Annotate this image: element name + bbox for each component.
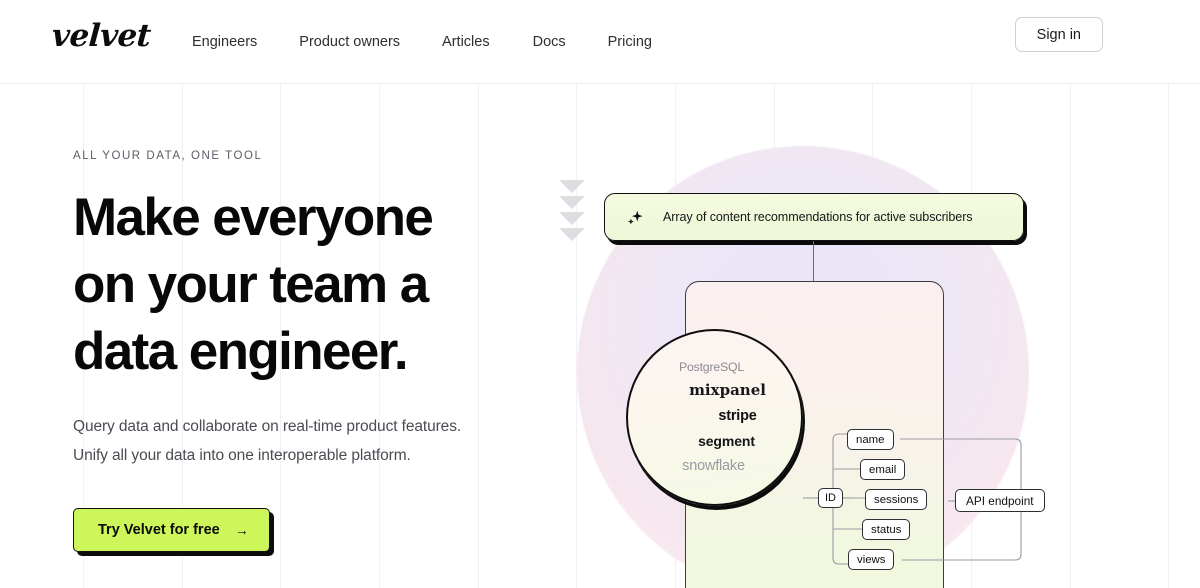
subtitle-line-1: Query data and collaborate on real-time … [73,412,543,441]
chip-name[interactable]: name [847,429,894,450]
try-velvet-for-free-button[interactable]: Try Velvet for free → [73,508,270,552]
arrow-right-icon: → [235,523,249,537]
subtitle-line-2: Unify all your data into one interoperab… [73,441,543,470]
headline-line-3: data engineer. [73,318,543,385]
main-nav: Engineers Product owners Articles Docs P… [192,0,652,84]
cta-wrapper: Try Velvet for free → [73,508,270,552]
cta-label: Try Velvet for free [98,522,220,538]
nav-link-pricing[interactable]: Pricing [608,35,652,50]
nav-link-docs[interactable]: Docs [533,35,566,50]
nav-link-engineers[interactable]: Engineers [192,35,257,50]
headline-line-1: Make everyone [73,184,543,251]
chip-id[interactable]: ID [818,488,843,508]
field-connector-wires [530,84,1200,588]
source-snowflake: snowflake [682,459,745,474]
chip-status[interactable]: status [862,519,910,540]
data-sources-circle: PostgreSQL mixpanel stripe segment snowf… [626,329,803,506]
source-stripe: stripe [718,409,756,424]
chip-sessions[interactable]: sessions [865,489,927,510]
chip-api-endpoint[interactable]: API endpoint [955,489,1045,512]
chip-views[interactable]: views [848,549,894,570]
source-mixpanel: mixpanel [689,383,766,398]
page-title: Make everyone on your team a data engine… [73,184,543,385]
sign-in-button[interactable]: Sign in [1015,17,1103,52]
landing-page: velvet Engineers Product owners Articles… [0,0,1200,588]
source-postgresql: PostgreSQL [679,361,744,373]
hero-section: ALL YOUR DATA, ONE TOOL Make everyone on… [73,150,543,552]
source-segment: segment [698,434,755,448]
chip-email[interactable]: email [860,459,905,480]
nav-link-product-owners[interactable]: Product owners [299,35,400,50]
headline-line-2: on your team a [73,251,543,318]
site-header: velvet Engineers Product owners Articles… [0,0,1200,84]
nav-link-articles[interactable]: Articles [442,35,490,50]
hero-eyebrow: ALL YOUR DATA, ONE TOOL [73,150,543,162]
hero-subtitle: Query data and collaborate on real-time … [73,412,543,470]
brand-logo[interactable]: velvet [51,18,152,54]
data-flow-diagram: Array of content recommendations for act… [530,84,1200,588]
